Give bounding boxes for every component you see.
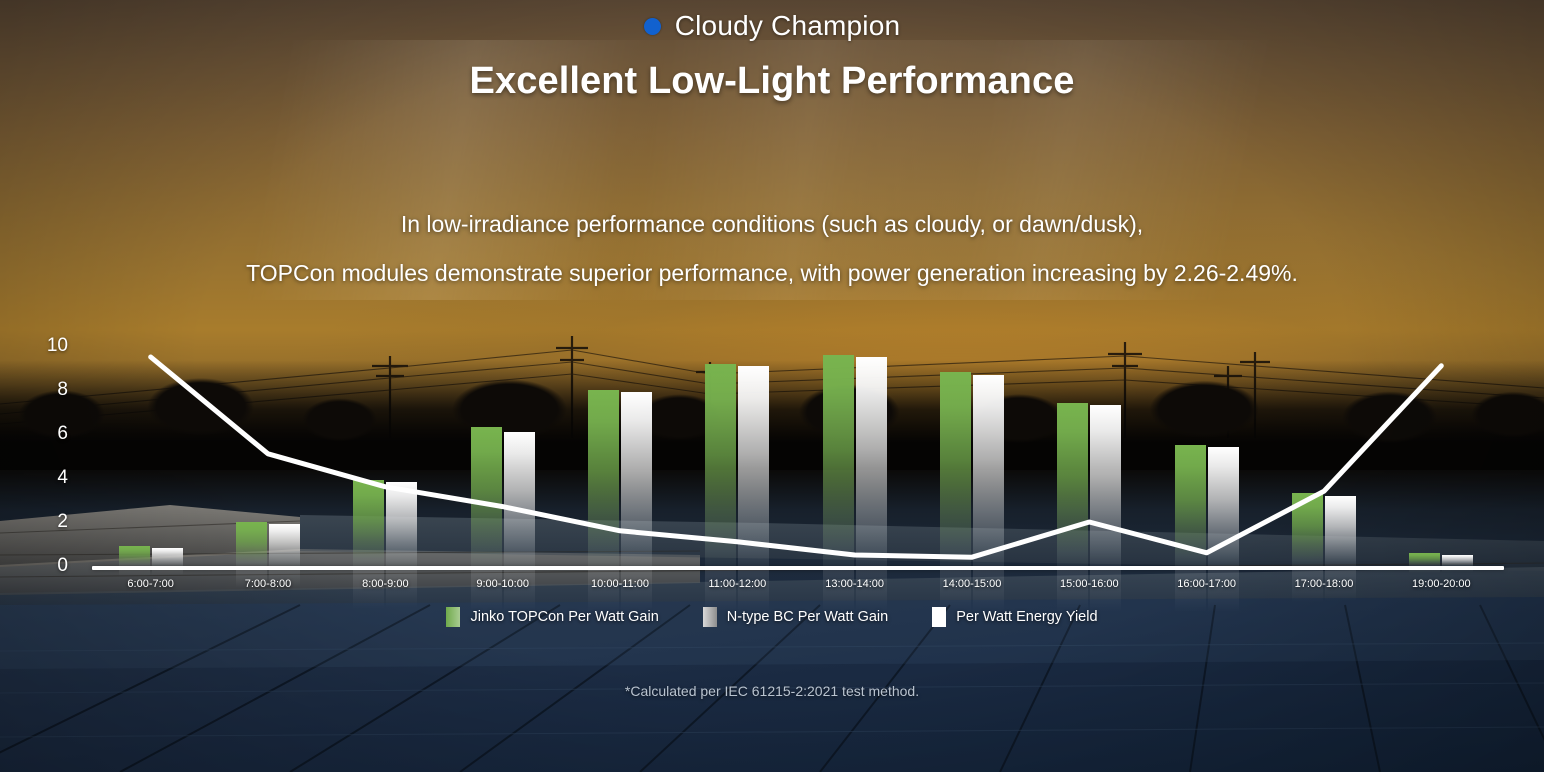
legend-swatch-grey-icon [703, 607, 717, 627]
page-title: Excellent Low-Light Performance [0, 60, 1544, 103]
legend-item: N-type BC Per Watt Gain [703, 607, 888, 627]
bullet-dot-icon [644, 18, 661, 35]
chart-low-light-performance: 02468106:00-7:007:00-8:008:00-9:009:00-1… [0, 320, 1544, 640]
legend-swatch-green-icon [446, 607, 460, 627]
legend-label: Jinko TOPCon Per Watt Gain [470, 609, 658, 625]
legend-item: Per Watt Energy Yield [932, 607, 1097, 627]
body-line-2: TOPCon modules demonstrate superior perf… [0, 249, 1544, 298]
legend-swatch-white-icon [932, 607, 946, 627]
kicker: Cloudy Champion [0, 10, 1544, 42]
line-series-per-watt-energy-yield [0, 320, 1544, 640]
kicker-label: Cloudy Champion [675, 10, 901, 42]
footnote: *Calculated per IEC 61215-2:2021 test me… [0, 683, 1544, 699]
legend-label: N-type BC Per Watt Gain [727, 609, 888, 625]
line-path [151, 357, 1442, 557]
body-line-1: In low-irradiance performance conditions… [0, 200, 1544, 249]
slide-root: Cloudy Champion Excellent Low-Light Perf… [0, 0, 1544, 772]
legend-item: Jinko TOPCon Per Watt Gain [446, 607, 658, 627]
chart-legend: Jinko TOPCon Per Watt Gain N-type BC Per… [0, 607, 1544, 627]
legend-label: Per Watt Energy Yield [956, 609, 1097, 625]
body-copy: In low-irradiance performance conditions… [0, 200, 1544, 298]
